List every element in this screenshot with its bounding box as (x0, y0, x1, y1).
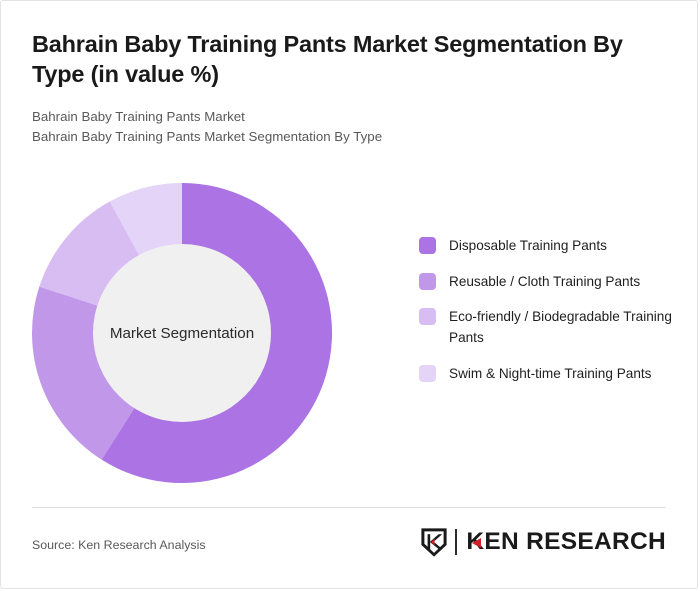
chart-card: Bahrain Baby Training Pants Market Segme… (0, 0, 698, 589)
source-note: Source: Ken Research Analysis (32, 538, 206, 552)
legend-swatch-icon (419, 365, 436, 382)
ken-research-logo: KEN RESEARCH (420, 526, 666, 558)
footer-divider (32, 507, 666, 508)
donut-chart: Market Segmentation (32, 183, 332, 483)
donut-svg (32, 183, 332, 483)
legend-item[interactable]: Reusable / Cloth Training Pants (419, 272, 679, 293)
legend-swatch-icon (419, 273, 436, 290)
chart-legend: Disposable Training PantsReusable / Clot… (419, 236, 679, 399)
legend-item-label: Reusable / Cloth Training Pants (449, 272, 640, 293)
legend-item[interactable]: Swim & Night-time Training Pants (419, 364, 679, 385)
legend-item[interactable]: Disposable Training Pants (419, 236, 679, 257)
legend-item-label: Disposable Training Pants (449, 236, 607, 257)
logo-red-triangle-icon (472, 538, 481, 548)
chart-header: Bahrain Baby Training Pants Market Segme… (32, 29, 666, 148)
subtitle-line-2: Bahrain Baby Training Pants Market Segme… (32, 127, 666, 147)
logo-wordmark-text: KEN RESEARCH (466, 528, 666, 555)
page-title: Bahrain Baby Training Pants Market Segme… (32, 29, 666, 89)
shield-k-icon (420, 527, 448, 558)
legend-item-label: Eco-friendly / Biodegradable Training Pa… (449, 307, 679, 348)
legend-swatch-icon (419, 237, 436, 254)
legend-item[interactable]: Eco-friendly / Biodegradable Training Pa… (419, 307, 679, 348)
legend-swatch-icon (419, 308, 436, 325)
logo-divider (455, 529, 457, 555)
chart-body: Market Segmentation Disposable Training … (1, 171, 698, 496)
subtitle-line-1: Bahrain Baby Training Pants Market (32, 107, 666, 127)
donut-hole (93, 244, 271, 422)
logo-wordmark: KEN RESEARCH (466, 530, 666, 555)
legend-item-label: Swim & Night-time Training Pants (449, 364, 651, 385)
breadcrumb: Bahrain Baby Training Pants Market Bahra… (32, 107, 666, 147)
